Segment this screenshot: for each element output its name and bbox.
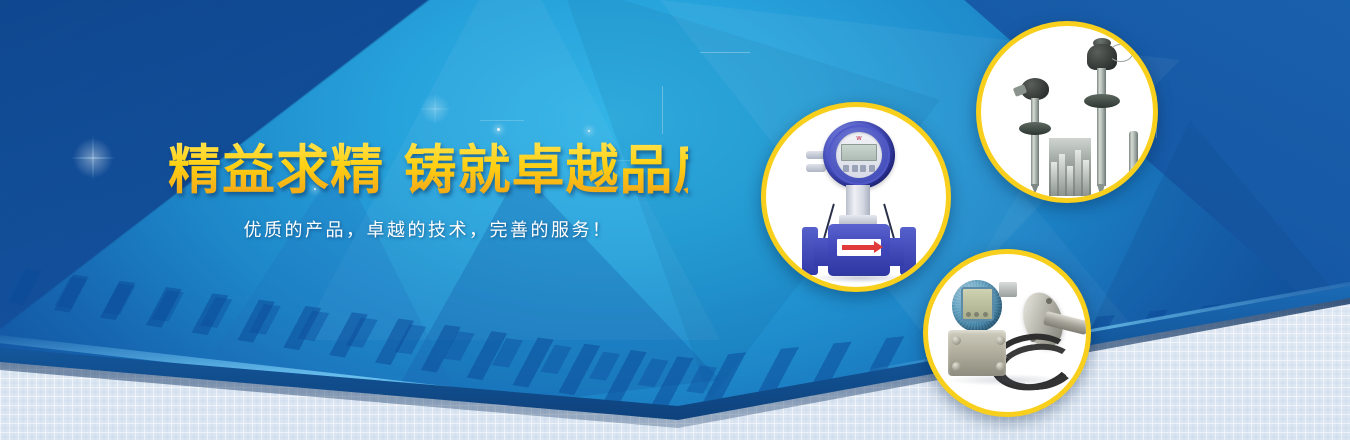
flowmeter-button — [852, 165, 858, 172]
transmitter-button — [983, 312, 988, 317]
flowmeter-neck — [846, 185, 870, 219]
flowmeter-ground-shadow — [814, 273, 906, 283]
flowmeter-brand-mark: w — [850, 135, 868, 142]
transmitter-button — [966, 312, 971, 317]
thermocouple-illustration — [981, 26, 1153, 198]
manifold-bolt — [996, 362, 1005, 371]
probe-left-sheath — [1031, 98, 1039, 186]
cluster-pin — [1059, 154, 1065, 196]
sparkle-star-icon — [418, 92, 452, 126]
cluster-pin — [1083, 160, 1089, 196]
manifold-bolt — [952, 362, 961, 371]
probe-small-tip — [1129, 177, 1137, 189]
light-streak — [480, 120, 524, 121]
flowmeter-button — [843, 165, 849, 172]
flowmeter-button — [869, 165, 875, 172]
flowmeter-illustration: w — [766, 107, 946, 287]
light-streak — [662, 86, 663, 134]
manifold-bolt — [952, 336, 961, 345]
light-streak — [700, 52, 750, 53]
probe-small-sheath — [1129, 131, 1138, 179]
flowmeter-button-row — [843, 165, 875, 172]
flowmeter-button — [860, 165, 866, 172]
transmitter-ground-shadow — [946, 374, 1066, 386]
transmitter-conduit-entry — [999, 282, 1017, 297]
cluster-pin — [1067, 166, 1073, 196]
flowmeter-side-port-lower — [806, 164, 826, 172]
flange-bolt-hole — [1046, 298, 1052, 304]
cluster-pin — [1075, 150, 1081, 196]
probe-left-tip — [1031, 184, 1039, 194]
hero-text-block: 精益求精 铸就卓越品质 优质的产品，卓越的技术，完善的服务！ — [168, 142, 688, 242]
flowmeter-direction-label — [837, 239, 881, 256]
transmitter-button — [974, 312, 979, 317]
product-circle-electromagnetic-flowmeter[interactable]: 电磁流量计 w — [761, 102, 951, 292]
sparkle-glint — [497, 128, 500, 131]
cluster-pin — [1051, 162, 1057, 196]
probe-tip-cluster — [1049, 138, 1091, 196]
pressure-transmitter-illustration — [928, 254, 1086, 412]
flow-direction-arrow-icon — [842, 245, 876, 250]
hero-headline: 精益求精 铸就卓越品质 — [168, 142, 688, 199]
probe-right-sheath — [1097, 68, 1106, 186]
product-circle-thermocouple-probes[interactable]: 热电偶温度传感器 — [976, 21, 1158, 203]
sparkle-star-icon — [70, 135, 116, 181]
probe-right-chain-loop — [1109, 44, 1133, 62]
transmitter-button-row — [964, 312, 990, 318]
probe-right-process-flange — [1084, 94, 1120, 108]
probe-right-tip — [1097, 184, 1105, 198]
product-circle-pressure-transmitter[interactable]: 压力变送器 — [923, 249, 1091, 417]
hero-subtitle: 优质的产品，卓越的技术，完善的服务！ — [168, 216, 688, 242]
probe-left-process-flange — [1019, 122, 1051, 135]
sparkle-glint — [588, 130, 590, 132]
flowmeter-lcd-display — [841, 144, 877, 161]
manifold-bolt — [996, 336, 1005, 345]
hero-banner: 精益求精 铸就卓越品质 优质的产品，卓越的技术，完善的服务！ 电磁流量计 w — [0, 0, 1350, 440]
